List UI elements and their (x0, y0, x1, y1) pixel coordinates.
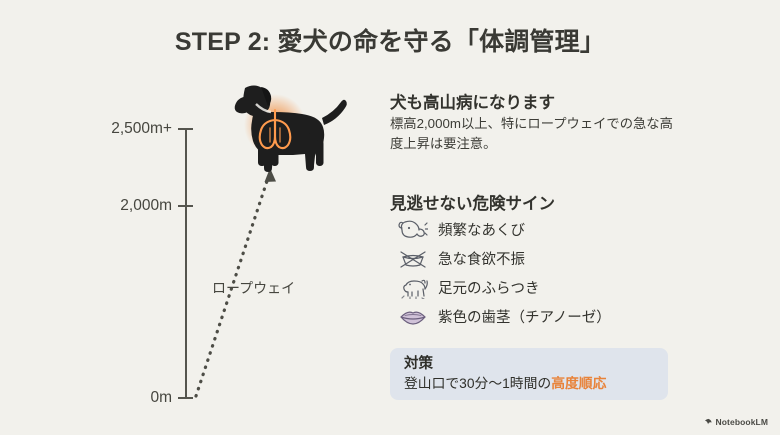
watermark-label: NotebookLM (716, 417, 768, 427)
notebooklm-logo-icon (704, 418, 713, 427)
callout-body-prefix: 登山口で30分〜1時間の (404, 376, 551, 391)
list-item: 紫色の歯茎（チアノーゼ） (396, 303, 726, 330)
danger-signs-list: 頻繁なあくび 急な食欲不振 (396, 216, 726, 332)
notebooklm-watermark: NotebookLM (704, 417, 768, 427)
callout-body-accent: 高度順応 (551, 376, 606, 391)
list-item: 足元のふらつき (396, 274, 726, 301)
crossed-out-food-bowl-icon (396, 247, 430, 271)
list-item: 急な食欲不振 (396, 245, 726, 272)
sign-label: 紫色の歯茎（チアノーゼ） (438, 306, 611, 327)
ropeway-path-icon (0, 0, 380, 435)
section-heading-danger-signs: 見逃せない危険サイン (390, 190, 555, 214)
slide-canvas: STEP 2: 愛犬の命を守る「体調管理」 2,500m+ 2,000m 0m … (0, 0, 780, 435)
dog-illustration (218, 78, 348, 173)
altitude-axis-area: 2,500m+ 2,000m 0m ロープウェイ (0, 0, 380, 435)
yawning-dog-head-icon (396, 218, 430, 242)
purple-gums-lips-icon (396, 305, 430, 329)
section-body-altitude-sickness: 標高2,000m以上、特にロープウェイでの急な高度上昇は要注意。 (390, 114, 680, 154)
callout-body: 登山口で30分〜1時間の高度順応 (404, 375, 668, 393)
countermeasure-callout: 対策 登山口で30分〜1時間の高度順応 (390, 348, 668, 400)
right-content-column: 犬も高山病になります 標高2,000m以上、特にロープウェイでの急な高度上昇は要… (390, 0, 780, 435)
section-heading-altitude-sickness: 犬も高山病になります (390, 89, 555, 113)
wobbling-dog-icon (396, 276, 430, 300)
callout-title: 対策 (404, 355, 668, 373)
sign-label: 足元のふらつき (438, 277, 540, 298)
sign-label: 頻繁なあくび (438, 219, 525, 240)
ropeway-label: ロープウェイ (212, 278, 295, 298)
list-item: 頻繁なあくび (396, 216, 726, 243)
sign-label: 急な食欲不振 (438, 248, 525, 269)
